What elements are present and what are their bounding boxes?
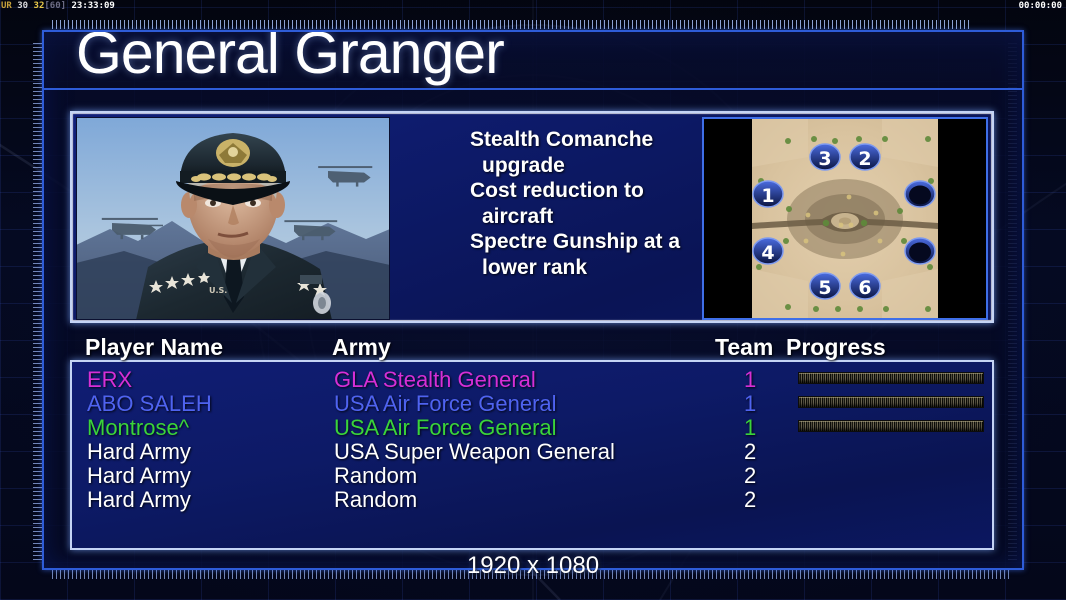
title-bar: General Granger: [44, 32, 1022, 90]
start-position-3: 3: [810, 144, 840, 170]
player-name: Montrose^: [87, 416, 189, 440]
player-name: Hard Army: [87, 488, 191, 512]
player-progress-bar: [798, 372, 984, 384]
fps-value: 30: [17, 1, 28, 11]
svg-text:5: 5: [818, 277, 831, 299]
column-header-player-name: Player Name: [85, 333, 223, 361]
player-team: 2: [744, 488, 756, 512]
player-row[interactable]: Hard Army USA Super Weapon General 2: [72, 440, 992, 464]
player-name: ABO SALEH: [87, 392, 212, 416]
player-army: USA Super Weapon General: [334, 440, 615, 464]
start-position-1: 1: [753, 181, 783, 207]
svg-text:2: 2: [858, 148, 871, 170]
fps-readout: UR 30 32[60] 23:33:09: [1, 0, 115, 13]
column-header-army: Army: [332, 333, 391, 361]
player-team: 2: [744, 440, 756, 464]
column-header-progress: Progress: [786, 333, 886, 361]
ruler-top: [52, 20, 972, 29]
column-header-team: Team: [715, 333, 773, 361]
general-portrait: U.S.: [76, 117, 390, 320]
game-timer: 00:00:00: [1019, 0, 1062, 13]
player-row[interactable]: ABO SALEH USA Air Force General 1: [72, 392, 992, 416]
start-position-5: 5: [810, 273, 840, 299]
start-position-4: 4: [753, 238, 783, 264]
fps-bracket: [60]: [44, 1, 66, 11]
fps-prefix: UR: [1, 1, 12, 11]
svg-text:1: 1: [761, 185, 774, 207]
player-row[interactable]: Hard Army Random 2: [72, 488, 992, 512]
start-position-6: 6: [850, 273, 880, 299]
player-team: 2: [744, 464, 756, 488]
general-info-panel: U.S. Stealth Comanche upgrade Cost reduc…: [70, 111, 994, 323]
svg-text:6: 6: [858, 277, 871, 299]
osd-bar: UR 30 32[60] 23:33:09 00:00:00: [0, 0, 1066, 13]
player-name: ERX: [87, 368, 132, 392]
player-name: Hard Army: [87, 464, 191, 488]
resolution-label: 1920 x 1080: [0, 552, 1066, 580]
player-team: 1: [744, 368, 756, 392]
start-position-2: 2: [850, 144, 880, 170]
player-army: USA Air Force General: [334, 392, 557, 416]
player-army: Random: [334, 488, 417, 512]
player-list: ERX GLA Stealth General 1 ABO SALEH USA …: [70, 360, 994, 550]
player-row[interactable]: Montrose^ USA Air Force General 1: [72, 416, 992, 440]
player-name: Hard Army: [87, 440, 191, 464]
svg-text:3: 3: [818, 148, 831, 170]
fps-alt: 32: [34, 1, 45, 11]
start-position-empty-a: [905, 181, 935, 207]
svg-text:U.S.: U.S.: [209, 286, 227, 295]
svg-text:4: 4: [761, 242, 774, 264]
player-progress-bar: [798, 420, 984, 432]
player-army: GLA Stealth General: [334, 368, 536, 392]
player-team: 1: [744, 392, 756, 416]
ruler-left: [33, 40, 42, 560]
start-position-empty-b: [905, 238, 935, 264]
player-progress-bar: [798, 396, 984, 408]
player-list-headers: Player Name Army Team Progress: [70, 333, 994, 361]
player-army: Random: [334, 464, 417, 488]
map-preview: 3 2 1 4 5 6: [702, 117, 988, 320]
player-army: USA Air Force General: [334, 416, 557, 440]
osd-clock: 23:33:09: [71, 1, 114, 11]
player-row[interactable]: ERX GLA Stealth General 1: [72, 368, 992, 392]
player-team: 1: [744, 416, 756, 440]
page-title: General Granger: [76, 32, 504, 83]
player-row[interactable]: Hard Army Random 2: [72, 464, 992, 488]
